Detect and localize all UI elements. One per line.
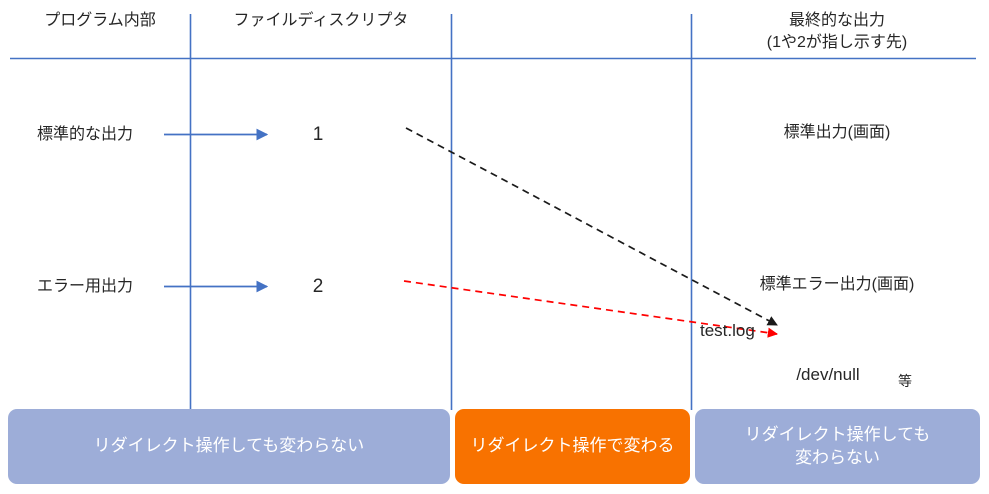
- summary-bar-unchanged-left-label: リダイレクト操作しても変わらない: [94, 435, 365, 458]
- summary-bar-unchanged-left: リダイレクト操作しても変わらない: [8, 409, 450, 484]
- destination-stdout-screen: 標準出力(画面): [697, 122, 977, 143]
- column-header-file-descriptor: ファイルディスクリプタ: [196, 10, 446, 31]
- summary-bar-changed-middle-label: リダイレクト操作で変わる: [471, 435, 675, 458]
- destination-etc-label: 等: [880, 372, 930, 390]
- row-label-standard-output: 標準的な出力: [10, 124, 160, 145]
- column-header-final-output-line1: 最終的な出力: [697, 10, 977, 31]
- arrow-fd1-to-testlog: [406, 128, 777, 325]
- destination-stderr-screen: 標準エラー出力(画面): [697, 274, 977, 295]
- fd-number-1: 1: [278, 122, 358, 147]
- summary-bar-unchanged-right-label-line1: リダイレクト操作しても: [745, 424, 931, 447]
- summary-bar-unchanged-right-label-line2: 変わらない: [795, 447, 880, 470]
- summary-bar-unchanged-right: リダイレクト操作しても 変わらない: [695, 409, 980, 484]
- summary-bar-changed-middle: リダイレクト操作で変わる: [455, 409, 690, 484]
- fd-number-2: 2: [278, 274, 358, 299]
- column-header-program-internal: プログラム内部: [10, 10, 190, 31]
- column-header-final-output-line2: (1や2が指し示す先): [697, 32, 977, 53]
- row-label-error-output: エラー用出力: [10, 276, 160, 297]
- diagram-canvas: プログラム内部 ファイルディスクリプタ 最終的な出力 (1や2が指し示す先) 標…: [0, 0, 989, 494]
- destination-test-log: test.log: [700, 320, 900, 342]
